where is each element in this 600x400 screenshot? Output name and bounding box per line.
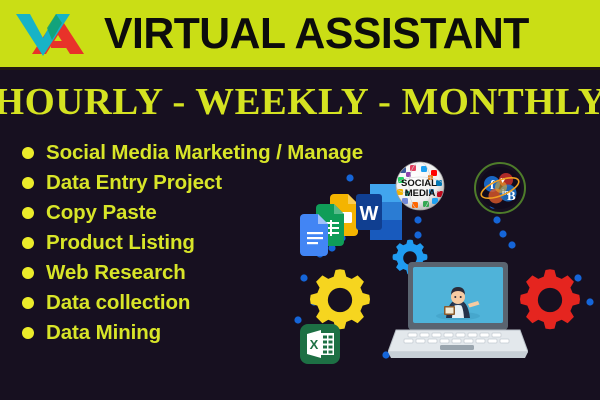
bullet-icon xyxy=(22,207,34,219)
service-label: Copy Paste xyxy=(46,203,157,224)
list-item: Data collection xyxy=(22,288,352,318)
list-item: Data Mining xyxy=(22,318,352,348)
social-network-badge: f ♥ in B xyxy=(472,160,528,216)
laptop-illustration xyxy=(388,260,528,365)
service-label: Social Media Marketing / Manage xyxy=(46,143,363,164)
bullet-icon xyxy=(22,267,34,279)
pricing-frequency-subtitle: HOURLY - WEEKLY - MONTHLY xyxy=(0,80,600,124)
bullet-icon xyxy=(22,297,34,309)
list-item: Copy Paste xyxy=(22,198,352,228)
list-item: Data Entry Project xyxy=(22,168,352,198)
bullet-icon xyxy=(22,147,34,159)
subtitle-band: HOURLY - WEEKLY - MONTHLY xyxy=(0,73,600,131)
bullet-icon xyxy=(22,237,34,249)
service-label: Data Entry Project xyxy=(46,173,222,194)
list-item: Product Listing xyxy=(22,228,352,258)
list-item: Social Media Marketing / Manage xyxy=(22,138,352,168)
virtual-assistant-poster: VIRTUAL ASSISTANT HOURLY - WEEKLY - MONT… xyxy=(0,0,600,400)
va-monogram-logo xyxy=(14,10,92,58)
sphere-label-line2: MEDIA xyxy=(405,188,436,199)
services-list: Social Media Marketing / Manage Data Ent… xyxy=(22,138,352,348)
service-label: Data Mining xyxy=(46,323,161,344)
bullet-icon xyxy=(22,177,34,189)
service-label: Web Research xyxy=(46,263,186,284)
list-item: Web Research xyxy=(22,258,352,288)
social-media-sphere: SOCIAL MEDIA xyxy=(394,160,446,212)
service-label: Product Listing xyxy=(46,233,195,254)
header-bar: VIRTUAL ASSISTANT xyxy=(0,0,600,70)
page-title: VIRTUAL ASSISTANT xyxy=(104,12,529,56)
svg-text:W: W xyxy=(360,203,379,225)
service-label: Data collection xyxy=(46,293,190,314)
bullet-icon xyxy=(22,327,34,339)
